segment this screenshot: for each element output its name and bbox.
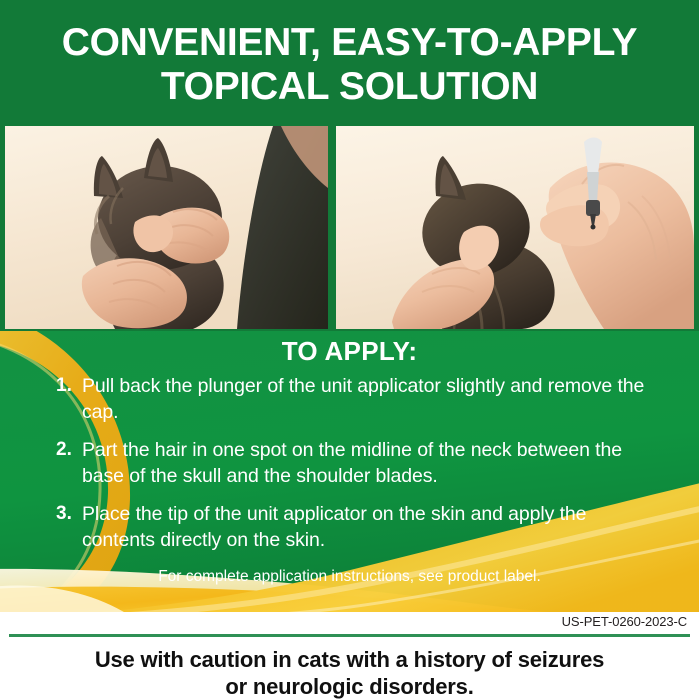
- photo-strip: [0, 118, 699, 336]
- apply-step-2: 2. Part the hair in one spot on the midl…: [56, 437, 656, 489]
- apply-steps-list: 1. Pull back the plunger of the unit app…: [56, 373, 656, 565]
- instructions-panel: TO APPLY: 1. Pull back the plunger of th…: [0, 331, 699, 621]
- step-number: 3.: [56, 501, 82, 527]
- caution-footer: Use with caution in cats with a history …: [0, 640, 699, 700]
- marketing-infographic: CONVENIENT, EASY-TO-APPLY TOPICAL SOLUTI…: [0, 0, 699, 700]
- step-text: Pull back the plunger of the unit applic…: [82, 373, 656, 425]
- to-apply-heading: TO APPLY:: [0, 336, 699, 366]
- photo-right-illustration: [336, 126, 694, 329]
- instructions-content: TO APPLY: 1. Pull back the plunger of th…: [0, 331, 699, 621]
- step-text: Place the tip of the unit applicator on …: [82, 501, 656, 553]
- product-label-note: For complete application instructions, s…: [0, 567, 699, 586]
- photo-left-illustration: [5, 126, 328, 329]
- green-divider-rule: [9, 634, 690, 637]
- caution-line-1: Use with caution in cats with a history …: [95, 646, 604, 673]
- header-title-line-1: CONVENIENT, EASY-TO-APPLY: [62, 20, 637, 65]
- photo-cat-head-held-in-hands: [5, 126, 328, 329]
- header-title-line-2: TOPICAL SOLUTION: [161, 64, 538, 109]
- document-code-strip: US-PET-0260-2023-C: [0, 612, 699, 640]
- caution-line-2: or neurologic disorders.: [225, 673, 473, 700]
- apply-step-1: 1. Pull back the plunger of the unit app…: [56, 373, 656, 425]
- document-code: US-PET-0260-2023-C: [562, 614, 687, 630]
- apply-step-3: 3. Place the tip of the unit applicator …: [56, 501, 656, 553]
- step-number: 1.: [56, 373, 82, 399]
- photo-applicator-applied-to-cat-neck: [336, 126, 694, 329]
- header-banner: CONVENIENT, EASY-TO-APPLY TOPICAL SOLUTI…: [0, 0, 699, 126]
- step-text: Part the hair in one spot on the midline…: [82, 437, 656, 489]
- step-number: 2.: [56, 437, 82, 463]
